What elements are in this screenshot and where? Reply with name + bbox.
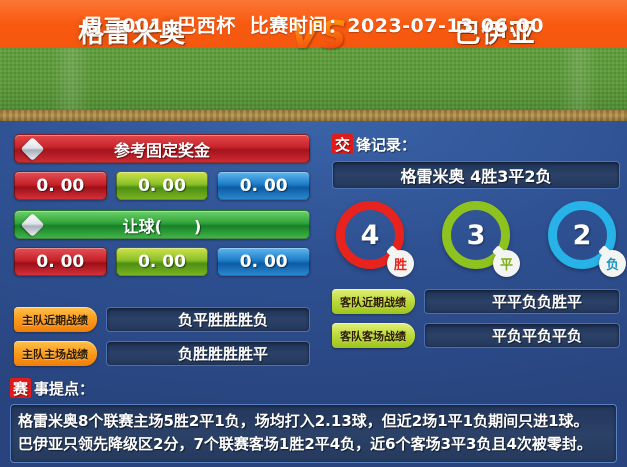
record-row-away-venue: 客队客场战绩 平负平负平负	[332, 323, 620, 348]
header-title: 周三001巴西杯比赛时间：2023-07-13 06:00	[83, 11, 544, 38]
tips-label-text: 事提点：	[34, 378, 94, 399]
header-round: 周三001	[83, 15, 163, 37]
tips-box: 格雷米奥8个联赛主场5胜2平1负，场均打入2.13球，但近2场1平1负期间只进1…	[10, 404, 617, 463]
fixed-odds-title: 参考固定奖金	[114, 137, 210, 161]
record-value-away-venue: 平负平负平负	[424, 323, 620, 348]
handicap-title-bar: 让球( )	[14, 210, 310, 239]
h2h-label-text: 锋记录：	[356, 134, 416, 155]
ring-draws: 3 平	[442, 201, 510, 269]
fixed-odd-home[interactable]: 0. 00	[14, 171, 107, 200]
pitch-dirt-strip	[0, 110, 627, 121]
odds-column: 参考固定奖金 0. 00 0. 00 0. 00 让球( ) 0. 00 0. …	[14, 134, 310, 366]
fixed-odds-row: 0. 00 0. 00 0. 00	[14, 171, 310, 200]
ring-draws-badge: 平	[493, 250, 520, 277]
head-to-head-label: 交 锋记录：	[332, 134, 620, 154]
diamond-icon	[20, 136, 44, 160]
ring-wins-badge: 胜	[387, 250, 414, 277]
header-kickoff-label: 比赛时间：	[250, 15, 348, 37]
head-to-head-summary: 格雷米奥 4胜3平2负	[332, 161, 620, 189]
handicap-odd-away[interactable]: 0. 00	[217, 247, 310, 276]
handicap-title: 让球( )	[123, 213, 202, 237]
ring-losses-badge: 负	[599, 250, 626, 277]
record-row-away-recent: 客队近期战绩 平平负负胜平	[332, 289, 620, 314]
head-to-head-rings: 4 胜 3 平 2 负	[332, 201, 620, 269]
record-tag-home-venue: 主队主场战绩	[14, 341, 97, 366]
tip-line-away: 巴伊亚只领先降级区2分，7个联赛客场1胜2平4负，近6个客场3平3负且4次被零封…	[18, 433, 609, 456]
fixed-odds-title-bar: 参考固定奖金	[14, 134, 310, 163]
record-value-home-venue: 负胜胜胜胜平	[106, 341, 310, 366]
handicap-odds-row: 0. 00 0. 00 0. 00	[14, 247, 310, 276]
tips-label: 赛 事提点：	[10, 378, 617, 398]
fixed-odd-away[interactable]: 0. 00	[217, 171, 310, 200]
record-value-home-recent: 负平胜胜胜负	[106, 307, 310, 332]
handicap-odd-draw[interactable]: 0. 00	[116, 247, 209, 276]
ring-wins: 4 胜	[336, 201, 404, 269]
tips-badge-icon: 赛	[10, 378, 31, 398]
h2h-badge-icon: 交	[332, 134, 353, 154]
header-kickoff-time: 2023-07-13 06:00	[347, 15, 544, 37]
record-tag-home-recent: 主队近期战绩	[14, 307, 97, 332]
ring-losses: 2 负	[548, 201, 616, 269]
tips-section: 赛 事提点： 格雷米奥8个联赛主场5胜2平1负，场均打入2.13球，但近2场1平…	[10, 378, 617, 463]
head-to-head-column: 交 锋记录： 格雷米奥 4胜3平2负 4 胜 3 平 2 负 客队近期战绩 平平…	[332, 134, 620, 348]
record-value-away-recent: 平平负负胜平	[424, 289, 620, 314]
handicap-odd-home[interactable]: 0. 00	[14, 247, 107, 276]
record-tag-away-recent: 客队近期战绩	[332, 289, 415, 314]
record-row-home-venue: 主队主场战绩 负胜胜胜胜平	[14, 341, 310, 366]
diamond-icon	[20, 212, 44, 236]
match-preview-card: 周三001巴西杯比赛时间：2023-07-13 06:00 格雷米奥 VS 巴伊…	[0, 0, 627, 467]
record-row-home-recent: 主队近期战绩 负平胜胜胜负	[14, 307, 310, 332]
header-competition: 巴西杯	[177, 15, 236, 37]
fixed-odd-draw[interactable]: 0. 00	[116, 171, 209, 200]
tip-line-home: 格雷米奥8个联赛主场5胜2平1负，场均打入2.13球，但近2场1平1负期间只进1…	[18, 410, 609, 433]
record-tag-away-venue: 客队客场战绩	[332, 323, 415, 348]
